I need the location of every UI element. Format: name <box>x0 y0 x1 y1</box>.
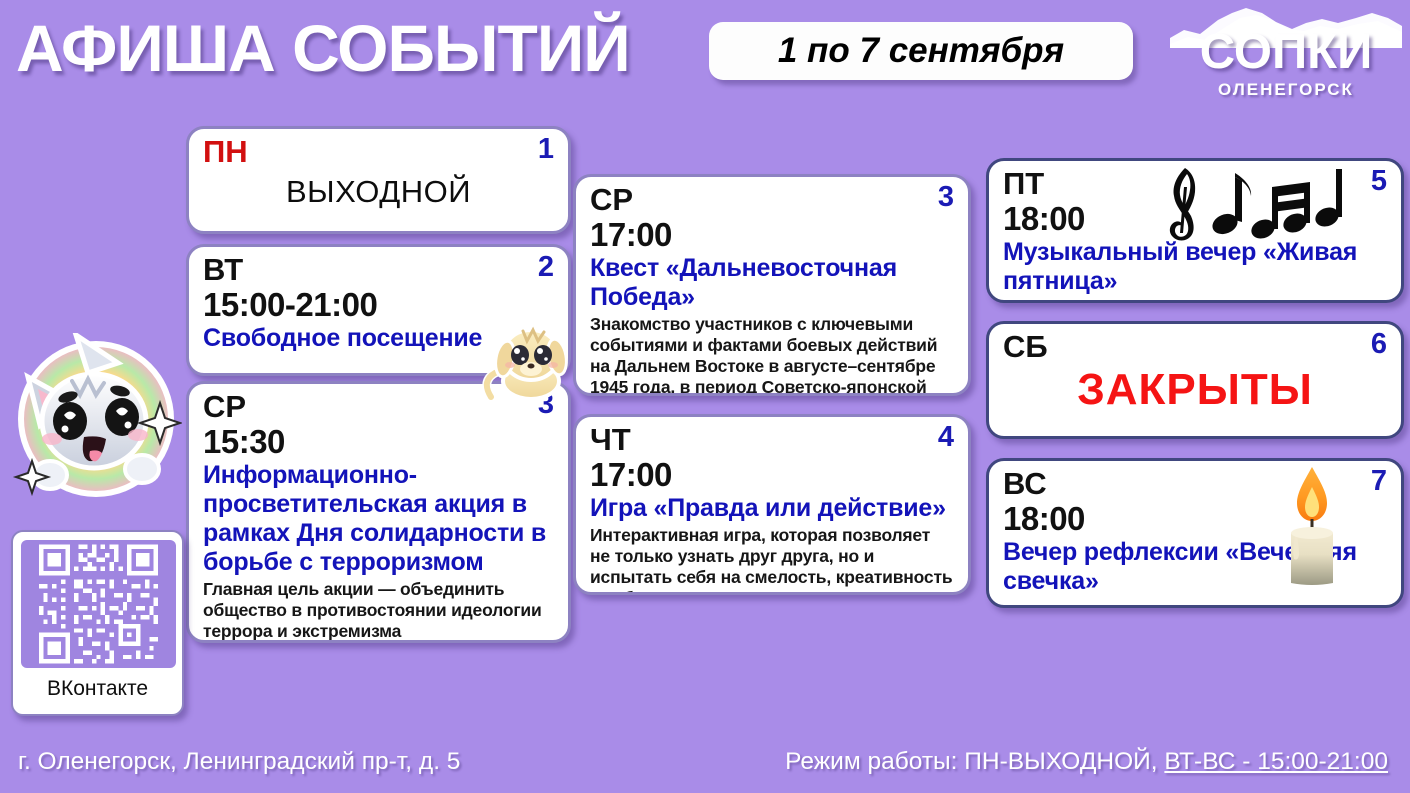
day-number: 2 <box>538 251 554 283</box>
event-title: Музыкальный вечер «Живая пятница» <box>1003 238 1387 296</box>
day-card-wednesday-action: СР 3 15:30 Информационно-просветительска… <box>186 381 571 643</box>
qr-code-block[interactable]: ВКонтакте <box>11 530 184 716</box>
date-range-badge: 1 по 7 сентября <box>709 22 1133 80</box>
day-status: ЗАКРЫТЫ <box>1003 364 1387 416</box>
day-card-sunday: ВС 7 18:00 Вечер рефлексии «Вечерняя све… <box>986 458 1404 608</box>
day-label: ВТ <box>203 253 554 287</box>
cat-sticker-icon <box>10 333 182 505</box>
event-time: 15:30 <box>203 424 554 460</box>
day-card-thursday: ЧТ 4 17:00 Игра «Правда или действие» Ин… <box>573 414 971 595</box>
day-label: ПН <box>203 135 554 169</box>
day-card-friday: ПТ 5 18:00 Музыкальный вечер «Живая пятн… <box>986 158 1404 303</box>
day-number: 5 <box>1371 165 1387 197</box>
day-card-saturday: СБ 6 ЗАКРЫТЫ <box>986 321 1404 439</box>
music-notes-icon <box>1159 165 1349 243</box>
day-card-wednesday-quest: СР 3 17:00 Квест «Дальневосточная Победа… <box>573 174 971 396</box>
event-description: Интерактивная игра, которая позволяет не… <box>590 525 954 595</box>
day-label: ЧТ <box>590 423 954 457</box>
day-number: 1 <box>538 133 554 165</box>
day-status: ВЫХОДНОЙ <box>203 173 554 211</box>
poster-header: АФИША СОБЫТИЙ 1 по 7 сентября СОПКИ ОЛЕН… <box>0 0 1410 110</box>
brand-logo: СОПКИ ОЛЕНЕГОРСК <box>1170 4 1402 104</box>
date-range-label: 1 по 7 сентября <box>778 31 1064 71</box>
footer-hours-underlined: ВТ-ВС - 15:00-21:00 <box>1164 748 1388 775</box>
event-time: 17:00 <box>590 217 954 253</box>
day-label: СБ <box>1003 330 1387 364</box>
day-number: 3 <box>938 181 954 213</box>
page-title: АФИША СОБЫТИЙ <box>16 10 630 86</box>
qr-code-icon[interactable] <box>21 540 176 668</box>
puppy-sticker-icon <box>479 311 571 403</box>
footer-address: г. Оленегорск, Ленинградский пр-т, д. 5 <box>18 748 460 776</box>
event-title: Квест «Дальневосточная Победа» <box>590 254 954 312</box>
logo-name-label: СОПКИ <box>1170 26 1402 78</box>
footer-hours-prefix: Режим работы: ПН-ВЫХОДНОЙ, <box>785 748 1164 775</box>
day-label: СР <box>590 183 954 217</box>
event-description: Главная цель акции — объединить общество… <box>203 579 554 642</box>
day-number: 7 <box>1371 465 1387 497</box>
event-description: Знакомство участников с ключевыми событи… <box>590 314 954 396</box>
logo-subtitle-label: ОЛЕНЕГОРСК <box>1170 80 1402 100</box>
day-card-monday: ПН 1 ВЫХОДНОЙ <box>186 126 571 234</box>
event-title: Информационно-просветительская акция в р… <box>203 461 554 577</box>
footer-hours: Режим работы: ПН-ВЫХОДНОЙ, ВТ-ВС - 15:00… <box>785 748 1388 776</box>
day-number: 4 <box>938 421 954 453</box>
qr-label: ВКонтакте <box>21 668 174 710</box>
candle-icon <box>1281 465 1343 585</box>
event-title: Игра «Правда или действие» <box>590 494 954 523</box>
day-number: 6 <box>1371 328 1387 360</box>
event-time: 17:00 <box>590 457 954 493</box>
